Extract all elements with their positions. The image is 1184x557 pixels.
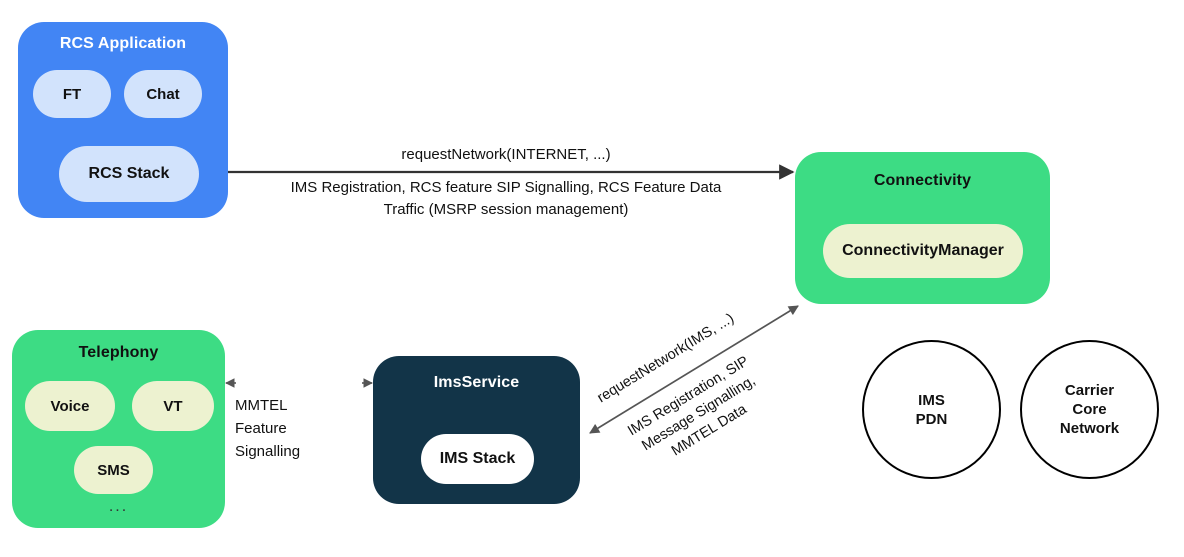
pill-vt[interactable]: VT: [132, 381, 214, 431]
pill-sms[interactable]: SMS: [74, 446, 153, 494]
node-telephony[interactable]: Telephony Voice VT SMS ...: [12, 330, 225, 528]
carrier-core-label-line3: Network: [1060, 419, 1119, 438]
pill-rcs-stack[interactable]: RCS Stack: [59, 146, 199, 202]
connectivity-title: Connectivity: [795, 172, 1050, 190]
telephony-title: Telephony: [12, 344, 225, 362]
node-ims-pdn[interactable]: IMS PDN: [862, 340, 1001, 479]
edge-label-mmtel-line1: MMTEL: [235, 394, 355, 417]
pill-ft[interactable]: FT: [33, 70, 111, 118]
ims-pdn-label-line2: PDN: [916, 410, 948, 429]
pill-ims-stack[interactable]: IMS Stack: [421, 434, 534, 484]
node-rcs-application[interactable]: RCS Application FT Chat RCS Stack: [18, 22, 228, 218]
pill-voice-label: Voice: [51, 398, 90, 415]
pill-ims-stack-label: IMS Stack: [440, 450, 516, 468]
edge-label-rcs-traffic-line2: Traffic (MSRP session management): [228, 199, 784, 221]
pill-sms-label: SMS: [97, 462, 130, 479]
carrier-core-label-line1: Carrier: [1060, 381, 1119, 400]
ims-service-title: ImsService: [373, 374, 580, 392]
node-ims-service[interactable]: ImsService IMS Stack: [373, 356, 580, 504]
node-carrier-core-network[interactable]: Carrier Core Network: [1020, 340, 1159, 479]
edge-label-rcs-traffic: IMS Registration, RCS feature SIP Signal…: [228, 177, 784, 221]
node-connectivity[interactable]: Connectivity ConnectivityManager: [795, 152, 1050, 304]
pill-vt-label: VT: [163, 398, 182, 415]
pill-voice[interactable]: Voice: [25, 381, 115, 431]
pill-ft-label: FT: [63, 86, 81, 103]
edge-label-mmtel-line2: Feature: [235, 417, 355, 440]
pill-rcs-stack-label: RCS Stack: [89, 165, 170, 183]
edge-label-request-network-internet: requestNetwork(INTERNET, ...): [236, 144, 776, 166]
pill-chat[interactable]: Chat: [124, 70, 202, 118]
pill-connectivity-manager-label: ConnectivityManager: [842, 242, 1004, 260]
pill-chat-label: Chat: [146, 86, 179, 103]
ims-pdn-label-line1: IMS: [916, 391, 948, 410]
edge-label-mmtel-line3: Signalling: [235, 440, 355, 463]
edge-label-mmtel-feature-signalling: MMTEL Feature Signalling: [235, 394, 355, 463]
rcs-application-title: RCS Application: [18, 35, 228, 53]
edge-label-rcs-traffic-line1: IMS Registration, RCS feature SIP Signal…: [228, 177, 784, 199]
telephony-ellipsis: ...: [12, 498, 225, 516]
pill-connectivity-manager[interactable]: ConnectivityManager: [823, 224, 1023, 278]
carrier-core-label-line2: Core: [1060, 400, 1119, 419]
